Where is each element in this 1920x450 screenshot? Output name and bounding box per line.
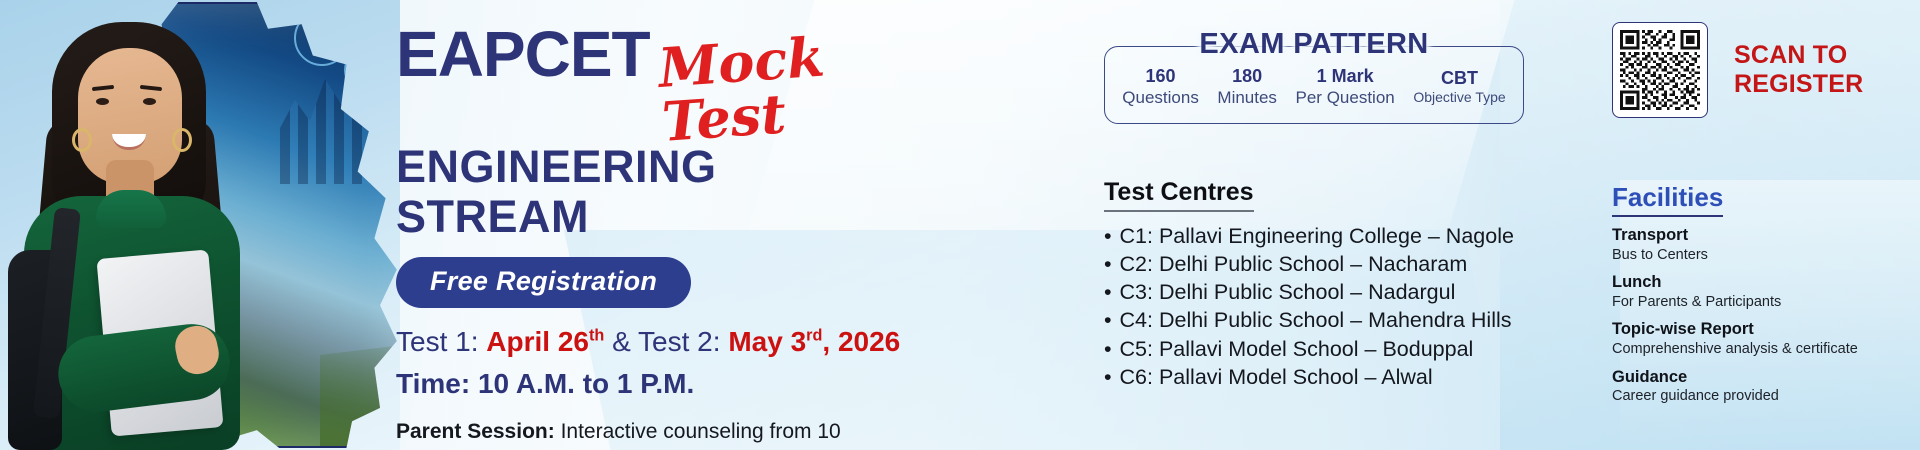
test1-ordinal: th — [589, 326, 604, 344]
free-registration-badge[interactable]: Free Registration — [396, 257, 691, 308]
earring — [172, 128, 192, 152]
facility-desc: Career guidance provided — [1612, 387, 1912, 406]
facility-report: Topic-wise Report Comprehenshive analysi… — [1612, 319, 1912, 358]
facility-title: Lunch — [1612, 272, 1912, 293]
headline-block: EAPCET Mock Test ENGINEERING STREAM Free… — [396, 22, 916, 450]
facility-desc: Bus to Centers — [1612, 246, 1912, 265]
student-turtleneck-collar — [96, 190, 166, 228]
facilities-section: Facilities Transport Bus to Centers Lunc… — [1612, 182, 1912, 406]
test1-date: April 26th — [486, 326, 604, 357]
exam-stat-label: Questions — [1122, 88, 1199, 108]
scan-line-1: SCAN TO — [1734, 41, 1863, 70]
exam-stat-number: 160 — [1122, 66, 1199, 87]
test-centres-list: C1: Pallavi Engineering College – Nagole… — [1104, 222, 1584, 391]
exam-stat-number: 1 Mark — [1296, 66, 1395, 87]
exam-stat-label: Per Question — [1296, 88, 1395, 108]
earring — [72, 128, 92, 152]
exam-stat-label: Objective Type — [1413, 89, 1505, 106]
ampersand: & — [612, 326, 638, 357]
time-value: 10 A.M. to 1 P.M. — [478, 368, 694, 399]
test-dates: Test 1: April 26th & Test 2: May 3rd, 20… — [396, 326, 916, 358]
test-centres-title: Test Centres — [1104, 178, 1254, 212]
facilities-title: Facilities — [1612, 182, 1723, 217]
exam-stat-minutes: 180 Minutes — [1217, 66, 1277, 107]
stream-title: ENGINEERING STREAM — [396, 142, 916, 243]
list-item: C4: Delhi Public School – Mahendra Hills — [1104, 306, 1584, 334]
exam-stat-number: 180 — [1217, 66, 1277, 87]
list-item: C2: Delhi Public School – Nacharam — [1104, 250, 1584, 278]
facility-transport: Transport Bus to Centers — [1612, 225, 1912, 264]
test2-ordinal: rd — [806, 326, 822, 344]
test2-date: May 3rd, 2026 — [728, 326, 900, 357]
parent-session-label: Parent Session: — [396, 420, 555, 443]
time-label: Time: — [396, 368, 470, 399]
parent-session-note: Parent Session: Interactive counseling f… — [396, 418, 866, 450]
hero-image — [0, 0, 400, 450]
scan-line-2: REGISTER — [1734, 70, 1863, 99]
exam-pattern-title: EXAM PATTERN — [1187, 28, 1440, 61]
test-centres-section: Test Centres C1: Pallavi Engineering Col… — [1104, 178, 1584, 391]
exam-stat-number: CBT — [1413, 68, 1505, 89]
mock-test-script-text: Mock Test — [656, 23, 919, 149]
exam-stat-mode: CBT Objective Type — [1413, 68, 1505, 106]
student-eye — [143, 98, 156, 105]
exam-pattern-section: EXAM PATTERN 160 Questions 180 Minutes 1… — [1104, 32, 1524, 124]
exam-stat-label: Minutes — [1217, 88, 1277, 108]
exam-stat-questions: 160 Questions — [1122, 66, 1199, 107]
test2-prefix: Test 2: — [638, 326, 720, 357]
qr-section: SCAN TO REGISTER — [1612, 22, 1863, 118]
qr-code-icon — [1620, 30, 1700, 110]
facility-lunch: Lunch For Parents & Participants — [1612, 272, 1912, 311]
facility-guidance: Guidance Career guidance provided — [1612, 367, 1912, 406]
title-row: EAPCET Mock Test — [396, 22, 916, 138]
list-item: C5: Pallavi Model School – Boduppal — [1104, 335, 1584, 363]
test1-prefix: Test 1: — [396, 326, 478, 357]
list-item: C6: Pallavi Model School – Alwal — [1104, 363, 1584, 391]
facility-desc: Comprehenshive analysis & certificate — [1612, 340, 1912, 359]
facility-title: Guidance — [1612, 367, 1912, 388]
scan-to-register-text: SCAN TO REGISTER — [1734, 41, 1863, 99]
facility-title: Transport — [1612, 225, 1912, 246]
list-item: C3: Delhi Public School – Nadargul — [1104, 278, 1584, 306]
facility-desc: For Parents & Participants — [1612, 293, 1912, 312]
exam-stat-marks: 1 Mark Per Question — [1296, 66, 1395, 107]
year: , 2026 — [822, 326, 900, 357]
exam-name-title: EAPCET — [396, 22, 650, 86]
facility-title: Topic-wise Report — [1612, 319, 1912, 340]
student-eye — [96, 98, 109, 105]
qr-code[interactable] — [1612, 22, 1708, 118]
list-item: C1: Pallavi Engineering College – Nagole — [1104, 222, 1584, 250]
test-time: Time: 10 A.M. to 1 P.M. — [396, 368, 916, 400]
